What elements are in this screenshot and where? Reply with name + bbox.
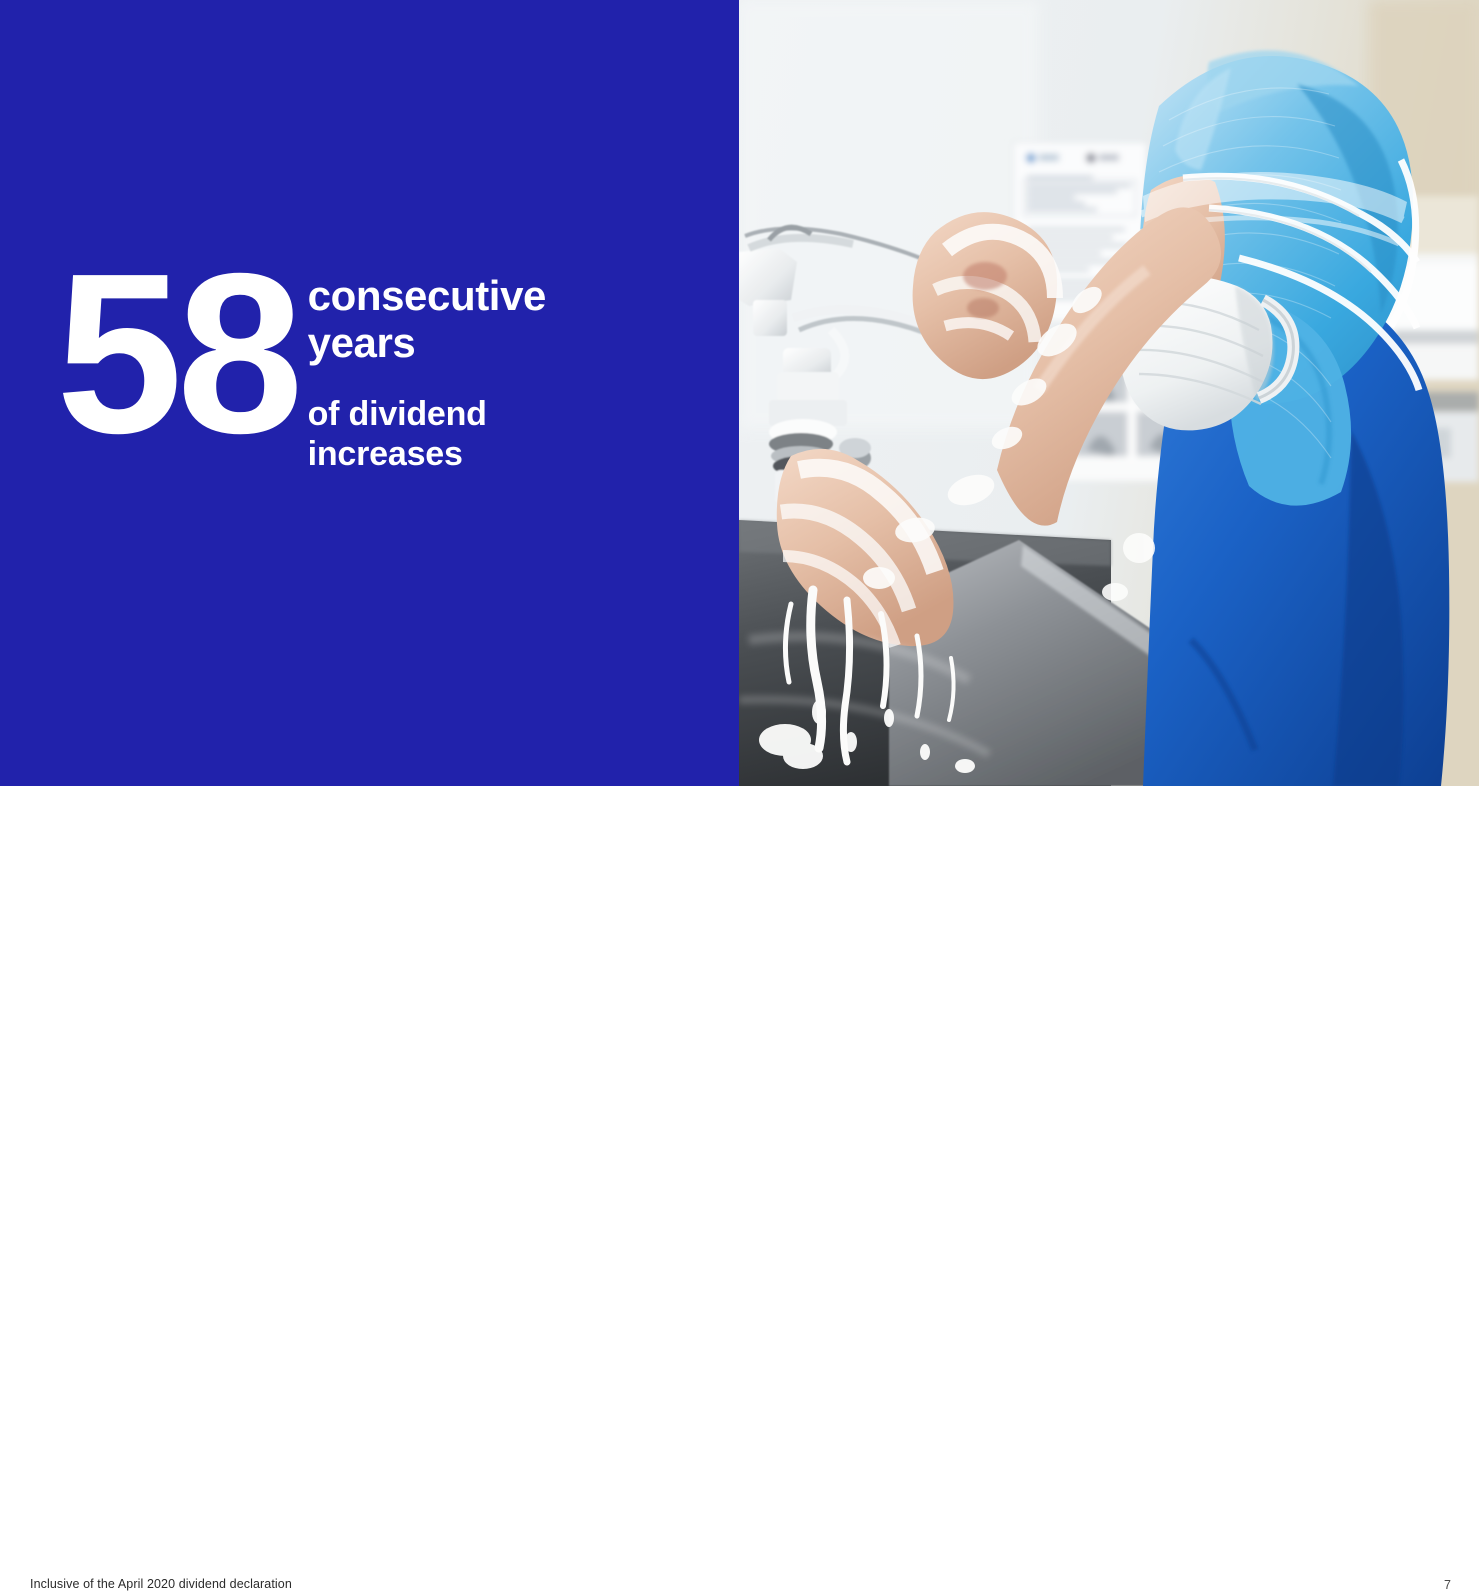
statistic-block: 58 consecutive years of dividend increas…	[56, 262, 658, 474]
stat-secondary-label: of dividend increases	[308, 394, 608, 474]
photo-illustration	[739, 0, 1479, 786]
stat-text-group: consecutive years of dividend increases	[308, 262, 658, 474]
footnote-text: Inclusive of the April 2020 dividend dec…	[30, 1577, 292, 1591]
slide-footer: Inclusive of the April 2020 dividend dec…	[0, 786, 1479, 832]
page-number: 7	[1444, 1578, 1451, 1592]
blue-stat-panel: 58 consecutive years of dividend increas…	[0, 0, 739, 786]
slide-root: 58 consecutive years of dividend increas…	[0, 0, 1479, 832]
stat-big-number: 58	[56, 256, 298, 452]
stat-primary-label: consecutive years	[308, 272, 658, 366]
hand-washing-photo	[739, 0, 1479, 786]
